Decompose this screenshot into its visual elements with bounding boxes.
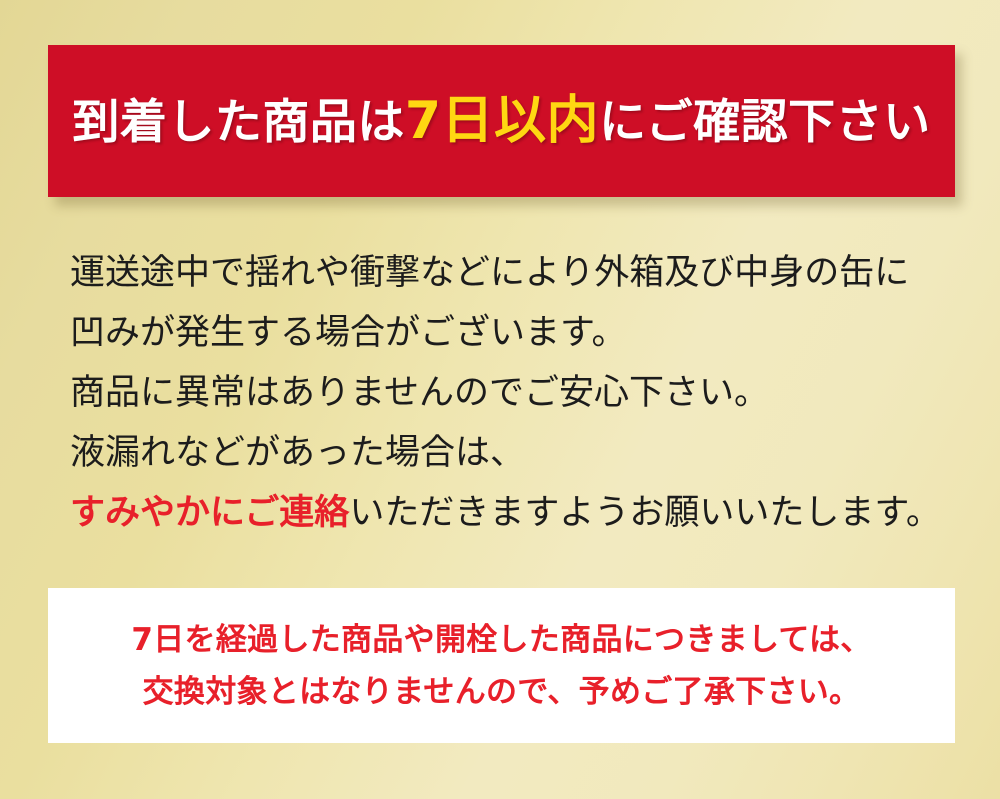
body-text-block: 運送途中で揺れや衝撃などにより外箱及び中身の缶に 凹みが発生する場合がございます… bbox=[70, 243, 950, 543]
body-line-4: 液漏れなどがあった場合は、 bbox=[70, 423, 950, 483]
body-line-2: 凹みが発生する場合がございます。 bbox=[70, 303, 950, 363]
body-line-3: 商品に異常はありませんのでご安心下さい。 bbox=[70, 363, 950, 423]
body-line-5: すみやかにご連絡いただきますようお願いいたします。 bbox=[70, 483, 950, 543]
notice-page: 到着した商品は7日以内にご確認下さい 運送途中で揺れや衝撃などにより外箱及び中身… bbox=[0, 0, 1000, 799]
body-line-5-highlight: すみやかにご連絡 bbox=[70, 493, 349, 533]
body-line-1: 運送途中で揺れや衝撃などにより外箱及び中身の缶に bbox=[70, 243, 950, 303]
body-line-5-rest: いただきますようお願いいたします。 bbox=[349, 493, 941, 533]
banner-title-highlight: 7日以内 bbox=[405, 91, 599, 151]
banner-title: 到着した商品は7日以内にご確認下さい bbox=[72, 95, 930, 147]
notice-line-2: 交換対象とはなりませんので、予めご了承下さい。 bbox=[143, 666, 861, 718]
banner-title-prefix: 到着した商品は bbox=[72, 95, 405, 150]
exclusion-notice-box: 7日を経過した商品や開栓した商品につきましては、 交換対象とはなりませんので、予… bbox=[48, 588, 955, 743]
notice-line-1: 7日を経過した商品や開栓した商品につきましては、 bbox=[131, 614, 871, 666]
headline-banner: 到着した商品は7日以内にご確認下さい bbox=[48, 45, 955, 197]
banner-title-suffix: にご確認下さい bbox=[599, 95, 931, 150]
